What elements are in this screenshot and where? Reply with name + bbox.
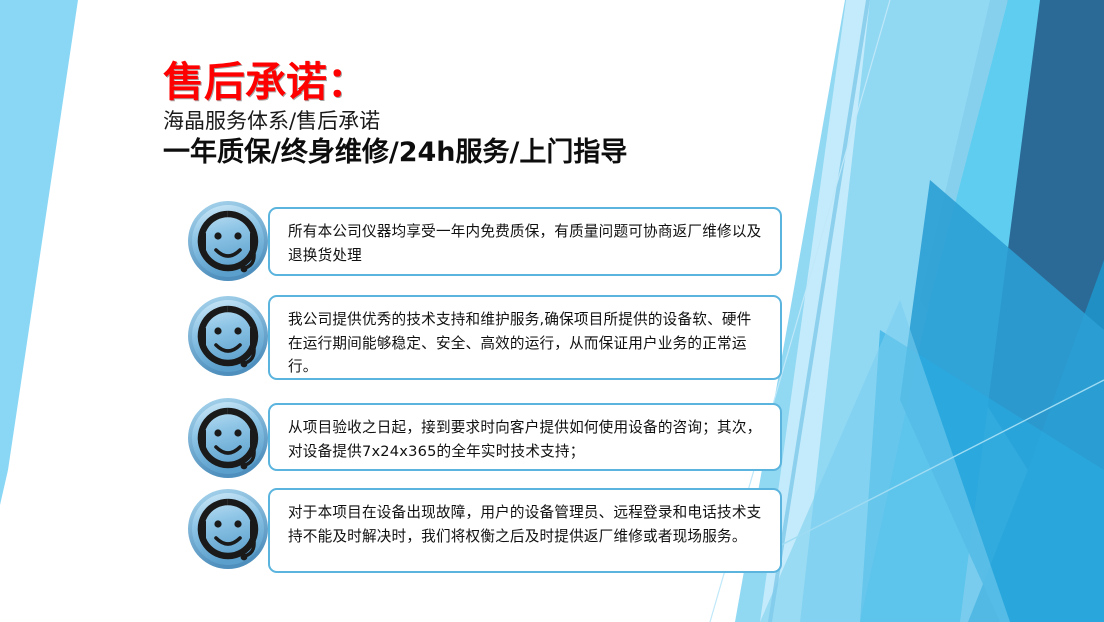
bg-hairline-b (752, 380, 1104, 560)
bg-shape-right-dark (920, 0, 1104, 470)
callout-text: 我公司提供优秀的技术支持和维护服务,确保项目所提供的设备软、硬件在运行期间能够稳… (270, 297, 780, 390)
bg-shape-right-deep (1028, 0, 1104, 300)
headset-smiley-icon (186, 199, 270, 283)
callout-box: 我公司提供优秀的技术支持和维护服务,确保项目所提供的设备软、硬件在运行期间能够稳… (268, 295, 782, 380)
bg-shape-cyan-v (860, 0, 1040, 622)
bg-shape-right-mid-slab (968, 260, 1104, 622)
callout-text: 对于本项目在设备出现故障，用户的设备管理员、远程登录和电话技术支持不能及时解决时… (270, 490, 780, 559)
headset-smiley-icon (186, 294, 270, 378)
tagline: 一年质保/终身维修/24h服务/上门指导 (163, 138, 803, 168)
callout-text: 从项目验收之日起，接到要求时向客户提供如何使用设备的咨询；其次，对设备提供7x2… (270, 405, 780, 474)
callout-text: 所有本公司仪器均享受一年内免费质保，有质量问题可协商返厂维修以及退换货处理 (270, 209, 780, 278)
slide-canvas: 售后承诺： 海晶服务体系/售后承诺 一年质保/终身维修/24h服务/上门指导 所… (0, 0, 1104, 622)
callout-box: 对于本项目在设备出现故障，用户的设备管理员、远程登录和电话技术支持不能及时解决时… (268, 488, 782, 573)
bg-shape-lower-pale (760, 300, 1010, 622)
breadcrumb: 海晶服务体系/售后承诺 (163, 109, 803, 133)
bg-shape-overlay-wedge (860, 330, 1104, 622)
bg-shape-medium-diagonal (900, 180, 1104, 622)
callout-box: 从项目验收之日起，接到要求时向客户提供如何使用设备的咨询；其次，对设备提供7x2… (268, 403, 782, 471)
callout-box: 所有本公司仪器均享受一年内免费质保，有质量问题可协商返厂维修以及退换货处理 (268, 207, 782, 276)
headset-smiley-icon (186, 396, 270, 480)
headset-smiley-icon (186, 487, 270, 571)
page-title: 售后承诺： (163, 62, 803, 103)
bg-shape-left-wedge (0, 0, 78, 505)
heading-block: 售后承诺： 海晶服务体系/售后承诺 一年质保/终身维修/24h服务/上门指导 (163, 62, 803, 168)
